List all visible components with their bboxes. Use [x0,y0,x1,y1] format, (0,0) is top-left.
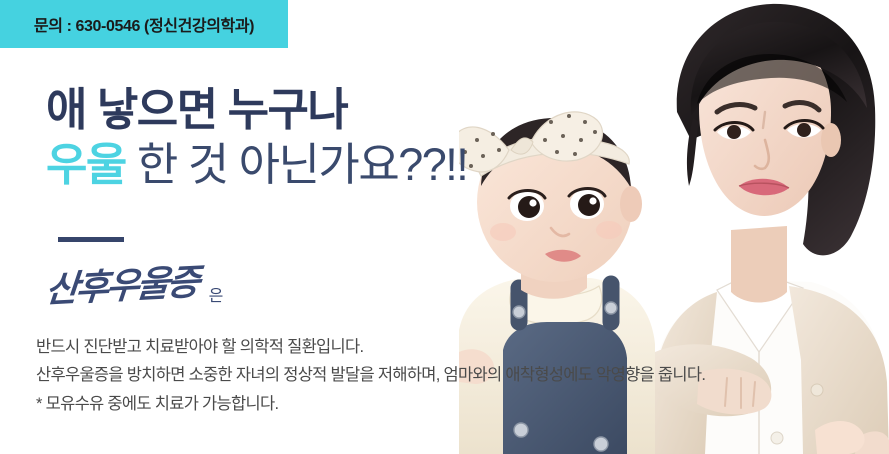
body-line-2: 산후우울증을 방치하면 소중한 자녀의 정상적 발달을 저해하며, 엄마와의 애… [36,361,705,389]
baby-cheek-right [596,221,622,239]
cardigan-button-1 [811,384,823,396]
body-copy: 반드시 진단받고 치료받아야 할 의학적 질환입니다. 산후우울증을 방치하면 … [36,333,705,418]
overall-button-bottom-left [514,423,528,437]
term-suffix: 은 [209,289,223,305]
baby-eye-highlight-left [529,199,536,206]
overall-button-bottom-right [594,437,608,451]
baby-pupil-left [518,196,540,218]
baby-pupil-right [578,194,600,216]
headline-accent-word: 우울 [46,139,126,190]
body-line-3: * 모유수유 중에도 치료가 가능합니다. [36,390,705,418]
overall-button-left [513,306,525,318]
handwritten-term: 산후우울증 [44,264,199,308]
term-row: 산후우울증 은 [44,272,223,308]
mother-pupil-right [797,123,811,137]
contact-badge-label: 문의 : 630-0546 (정신건강의학과) [34,12,254,36]
mother-pupil-left [727,125,741,139]
headline: 애 낳으면 누구나 우울 한 것 아닌가요??!! [46,86,467,189]
body-line-1: 반드시 진단받고 치료받아야 할 의학적 질환입니다. [36,333,705,361]
overall-button-right [605,302,617,314]
headline-line-2-rest: 한 것 아닌가요??!! [126,139,467,190]
baby-ear [620,186,642,222]
baby-eye-highlight-right [589,197,596,204]
contact-badge[interactable]: 문의 : 630-0546 (정신건강의학과) [0,0,288,48]
baby-cheek-left [490,223,516,241]
postpartum-depression-banner: 문의 : 630-0546 (정신건강의학과) 애 낳으면 누구나 우울 한 것… [0,0,889,454]
mother-neck [731,226,787,303]
headline-line-2: 우울 한 것 아닌가요??!! [46,141,467,190]
headline-line-1: 애 낳으면 누구나 [46,86,467,135]
section-divider [58,237,124,242]
cardigan-button-2 [771,432,783,444]
